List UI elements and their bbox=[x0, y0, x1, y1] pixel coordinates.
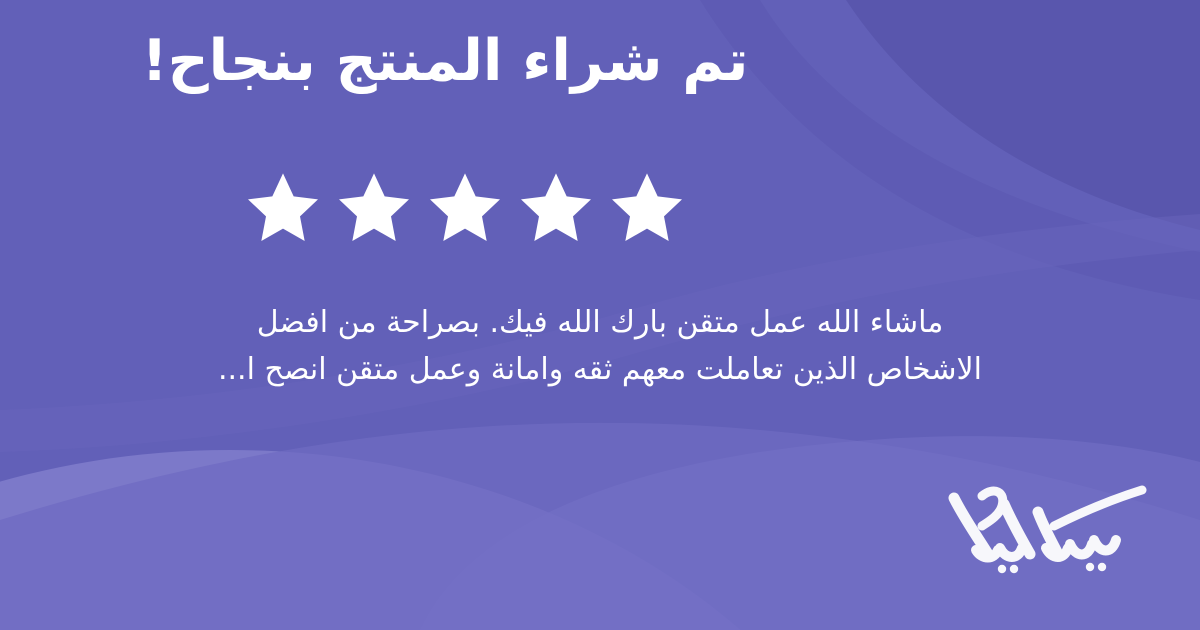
star-rating bbox=[0, 168, 1200, 264]
review-text-line: الاشخاص الذين تعاملت معهم ثقه وامانة وعم… bbox=[10, 347, 1190, 394]
review-text-line: ماشاء الله عمل متقن بارك الله فيك. بصراح… bbox=[10, 300, 1190, 347]
star-icon bbox=[333, 168, 415, 248]
star-icon bbox=[424, 168, 506, 248]
star-icon bbox=[606, 168, 688, 248]
page-title: تم شراء المنتج بنجاح! bbox=[30, 26, 1170, 97]
picalica-logo bbox=[942, 478, 1152, 574]
star-icon bbox=[242, 168, 324, 248]
review-share-card: تم شراء المنتج بنجاح! ماشاء الله عمل متق… bbox=[0, 0, 1200, 630]
star-icon bbox=[515, 168, 597, 248]
review-text: ماشاء الله عمل متقن بارك الله فيك. بصراح… bbox=[0, 300, 1200, 393]
